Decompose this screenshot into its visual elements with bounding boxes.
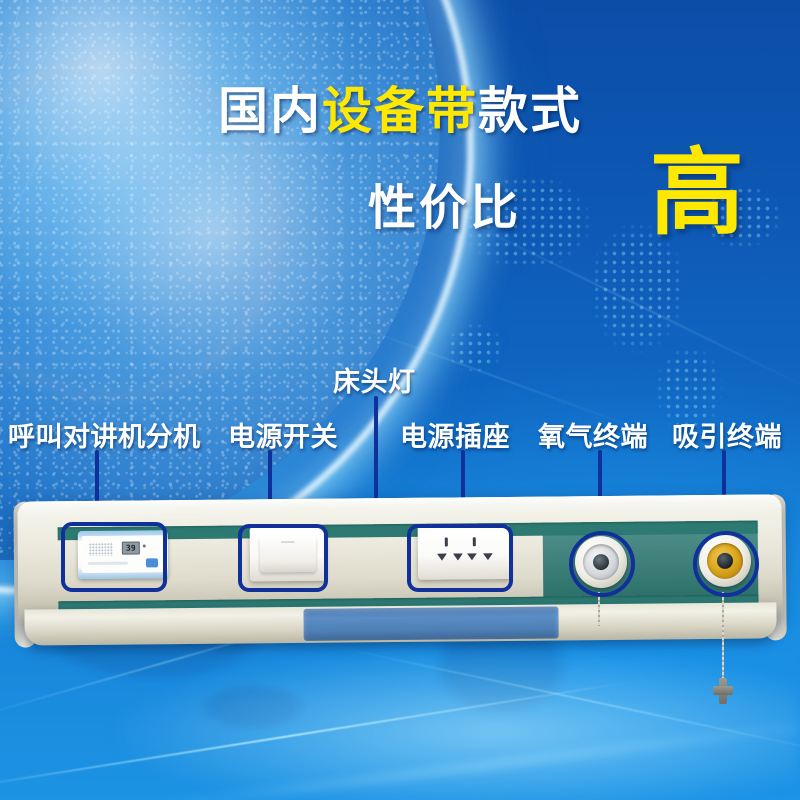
callout-label-power-socket: 电源插座 bbox=[400, 415, 510, 454]
pull-cord-pendant[interactable] bbox=[713, 678, 733, 704]
callout-label-power-switch: 电源开关 bbox=[228, 415, 338, 454]
suction-pull-cord bbox=[722, 592, 724, 682]
oxygen-pull-cord bbox=[598, 592, 600, 626]
callout-label-oxygen-terminal: 氧气终端 bbox=[538, 415, 648, 454]
subtitle: 性价比 bbox=[368, 168, 521, 238]
callout-label-call-intercom-extension: 呼叫对讲机分机 bbox=[8, 415, 201, 454]
headline-part2: 款式 bbox=[478, 83, 582, 139]
headline: 国内设备带款式 bbox=[0, 86, 800, 136]
bedside-lamp-strip[interactable] bbox=[303, 606, 558, 640]
highlight-box-switch bbox=[238, 524, 328, 592]
highlight-box-intercom bbox=[61, 522, 167, 592]
callout-label-bedside-lamp: 床头灯 bbox=[333, 360, 416, 399]
highlight-box-socket bbox=[407, 524, 513, 592]
headline-part1: 国内 bbox=[218, 83, 322, 139]
headline-highlight: 设备带 bbox=[322, 83, 478, 139]
highlight-circle-oxygen bbox=[569, 531, 635, 597]
highlight-circle-suction bbox=[693, 531, 759, 597]
big-word-gao: 高 bbox=[650, 146, 744, 240]
subtitle-row: 性价比 高 bbox=[0, 168, 800, 246]
poster-canvas: 国内设备带款式 性价比 高 呼叫对讲机分机 电源开关 床头灯 电源插座 氧气终端… bbox=[0, 0, 800, 800]
callout-label-suction-terminal: 吸引终端 bbox=[672, 415, 782, 454]
